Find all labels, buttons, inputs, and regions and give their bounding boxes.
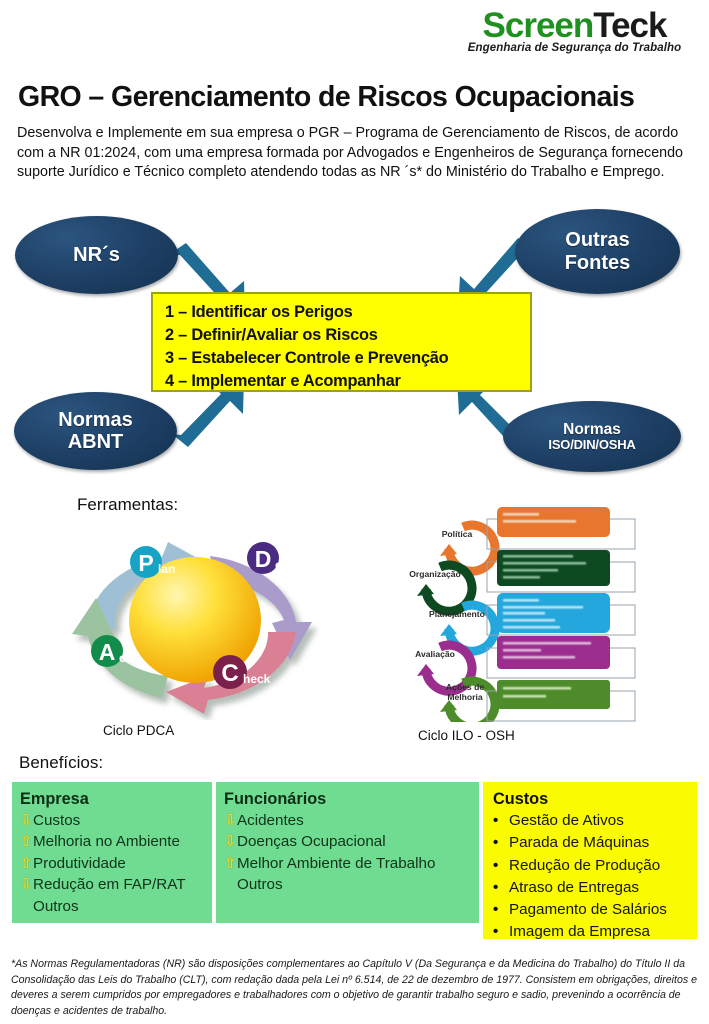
list-item: ⇧Outros bbox=[20, 896, 203, 917]
benefit-item-label: Outros bbox=[237, 874, 283, 895]
source-ellipse-normas-abnt: Normas ABNT bbox=[14, 392, 177, 470]
ilo-label-melhoria-2: Melhoria bbox=[447, 692, 483, 702]
benefit-item-label: Parada de Máquinas bbox=[509, 832, 649, 854]
ilo-label-organizacao: Organização bbox=[409, 569, 461, 579]
bullet-icon: • bbox=[493, 855, 509, 876]
svg-text:o: o bbox=[275, 558, 282, 572]
benefit-item-label: Redução em FAP/RAT bbox=[33, 874, 186, 895]
ilo-content-panels bbox=[497, 507, 610, 709]
no-arrow-icon: ⇧ bbox=[20, 896, 33, 917]
list-item: ⇧Produtividade bbox=[20, 853, 203, 874]
benefit-item-label: Melhor Ambiente de Trabalho bbox=[237, 853, 435, 874]
gro-step-1: 1 – Identificar os Perigos bbox=[165, 301, 530, 324]
svg-text:ct: ct bbox=[119, 651, 130, 665]
ilo-osh-cycle-graphic: Política Organização Planejamento Avalia… bbox=[395, 500, 645, 722]
arrow-down-icon: ⇩ bbox=[224, 831, 237, 852]
ilo-panel-melhoria bbox=[497, 680, 610, 709]
list-item: ⇧Outros bbox=[224, 874, 470, 895]
arrow-up-icon: ⇧ bbox=[20, 831, 33, 852]
ilo-caption: Ciclo ILO - OSH bbox=[418, 728, 515, 743]
benefit-item-label: Gestão de Ativos bbox=[509, 810, 624, 832]
source-label-abnt-line1: Normas bbox=[58, 409, 132, 431]
no-arrow-icon: ⇧ bbox=[224, 874, 237, 895]
source-label-nr: NR´s bbox=[73, 244, 120, 266]
benefit-item-label: Custos bbox=[33, 810, 80, 831]
source-label-outras-line1: Outras bbox=[565, 229, 629, 251]
pdca-caption: Ciclo PDCA bbox=[103, 723, 174, 738]
svg-text:P: P bbox=[138, 550, 153, 576]
ilo-panel-organizacao bbox=[497, 550, 610, 586]
source-label-iso-line2: ISO/DIN/OSHA bbox=[548, 438, 635, 453]
page-title: GRO – Gerenciamento de Riscos Ocupaciona… bbox=[18, 81, 698, 114]
footnote-text: *As Normas Regulamentadoras (NR) são dis… bbox=[11, 957, 697, 1019]
bullet-icon: • bbox=[493, 899, 509, 920]
source-label-abnt-line2: ABNT bbox=[68, 431, 124, 453]
gro-step-4: 4 – Implementar e Acompanhar bbox=[165, 370, 530, 393]
arrow-down-icon: ⇩ bbox=[224, 810, 237, 831]
brand-logo: ScreenTeck Engenharia de Segurança do Tr… bbox=[452, 6, 697, 64]
ilo-label-politica: Política bbox=[442, 529, 473, 539]
bullet-icon: • bbox=[493, 832, 509, 853]
source-label-iso-line1: Normas bbox=[563, 421, 621, 438]
list-item: •Parada de Máquinas bbox=[493, 832, 688, 854]
gro-step-2: 2 – Definir/Avaliar os Riscos bbox=[165, 324, 530, 347]
benefit-card-title: Funcionários bbox=[224, 790, 470, 809]
benefit-list: ⇩Custos ⇧Melhoria no Ambiente ⇧Produtivi… bbox=[20, 810, 203, 917]
list-item: •Gestão de Ativos bbox=[493, 810, 688, 832]
list-item: •Pagamento de Salários bbox=[493, 899, 688, 921]
logo-tagline: Engenharia de Segurança do Trabalho bbox=[452, 42, 697, 54]
benefit-item-label: Imagem da Empresa bbox=[509, 921, 650, 943]
benefits-section-label: Benefícios: bbox=[19, 753, 103, 773]
benefit-item-label: Doenças Ocupacional bbox=[237, 831, 386, 852]
benefit-item-label: Pagamento de Salários bbox=[509, 899, 667, 921]
logo-word-screen: Screen bbox=[483, 6, 594, 45]
intro-paragraph: Desenvolva e Implemente em sua empresa o… bbox=[17, 124, 697, 183]
bullet-icon: • bbox=[493, 810, 509, 831]
benefit-card-title: Custos bbox=[493, 790, 688, 809]
ilo-panel-politica bbox=[497, 507, 610, 537]
pdca-badge-do: D o bbox=[247, 542, 282, 574]
list-item: ⇧Melhor Ambiente de Trabalho bbox=[224, 853, 470, 874]
arrow-up-icon: ⇧ bbox=[224, 853, 237, 874]
tools-section-label: Ferramentas: bbox=[77, 495, 178, 515]
benefit-card-title: Empresa bbox=[20, 790, 203, 809]
list-item: •Redução de Produção bbox=[493, 855, 688, 877]
logo-wordmark: ScreenTeck bbox=[452, 6, 697, 46]
pdca-cycle-graphic: P lan D o C heck A ct bbox=[58, 520, 328, 720]
svg-text:D: D bbox=[255, 546, 272, 572]
arrow-up-icon: ⇧ bbox=[20, 853, 33, 874]
list-item: ⇧Melhoria no Ambiente bbox=[20, 831, 203, 852]
arrow-down-icon: ⇩ bbox=[20, 874, 33, 895]
gro-flow-diagram: NR´s Outras Fontes Normas ABNT Normas IS… bbox=[0, 205, 709, 475]
arrow-down-icon: ⇩ bbox=[20, 810, 33, 831]
gro-steps-box: 1 – Identificar os Perigos 2 – Definir/A… bbox=[151, 292, 532, 392]
ilo-label-melhoria-1: Ações de bbox=[446, 682, 484, 692]
benefit-item-label: Melhoria no Ambiente bbox=[33, 831, 180, 852]
svg-text:lan: lan bbox=[158, 562, 175, 576]
list-item: ⇩Custos bbox=[20, 810, 203, 831]
ilo-label-avaliacao: Avaliação bbox=[415, 649, 455, 659]
svg-text:C: C bbox=[221, 660, 238, 687]
svg-text:heck: heck bbox=[243, 672, 271, 686]
svg-text:A: A bbox=[99, 639, 116, 665]
benefit-item-label: Redução de Produção bbox=[509, 855, 660, 877]
list-item: •Atraso de Entregas bbox=[493, 877, 688, 899]
bullet-icon: • bbox=[493, 877, 509, 898]
benefit-item-label: Produtividade bbox=[33, 853, 126, 874]
list-item: ⇩Doenças Ocupacional bbox=[224, 831, 470, 852]
list-item: ⇩Acidentes bbox=[224, 810, 470, 831]
source-ellipse-nr: NR´s bbox=[15, 216, 178, 294]
logo-word-teck: Teck bbox=[593, 6, 666, 45]
benefit-list: •Gestão de Ativos •Parada de Máquinas •R… bbox=[493, 810, 688, 944]
gro-step-3: 3 – Estabelecer Controle e Prevenção bbox=[165, 347, 530, 370]
source-ellipse-normas-iso: Normas ISO/DIN/OSHA bbox=[503, 401, 681, 472]
benefit-card-funcionarios: Funcionários ⇩Acidentes ⇩Doenças Ocupaci… bbox=[216, 782, 479, 923]
list-item: •Imagem da Empresa bbox=[493, 921, 688, 943]
benefit-card-empresa: Empresa ⇩Custos ⇧Melhoria no Ambiente ⇧P… bbox=[12, 782, 212, 923]
bullet-icon: • bbox=[493, 921, 509, 942]
benefit-item-label: Acidentes bbox=[237, 810, 304, 831]
ilo-label-planejamento: Planejamento bbox=[429, 609, 485, 619]
source-ellipse-outras-fontes: Outras Fontes bbox=[515, 209, 680, 294]
benefit-item-label: Atraso de Entregas bbox=[509, 877, 639, 899]
benefit-card-custos: Custos •Gestão de Ativos •Parada de Máqu… bbox=[483, 782, 697, 939]
list-item: ⇩Redução em FAP/RAT bbox=[20, 874, 203, 895]
benefit-list: ⇩Acidentes ⇩Doenças Ocupacional ⇧Melhor … bbox=[224, 810, 470, 896]
ilo-panel-avaliacao bbox=[497, 636, 610, 669]
benefit-item-label: Outros bbox=[33, 896, 79, 917]
pdca-badge-act: A ct bbox=[91, 635, 130, 667]
ilo-panel-planejamento bbox=[497, 593, 610, 633]
source-label-outras-line2: Fontes bbox=[565, 252, 631, 274]
